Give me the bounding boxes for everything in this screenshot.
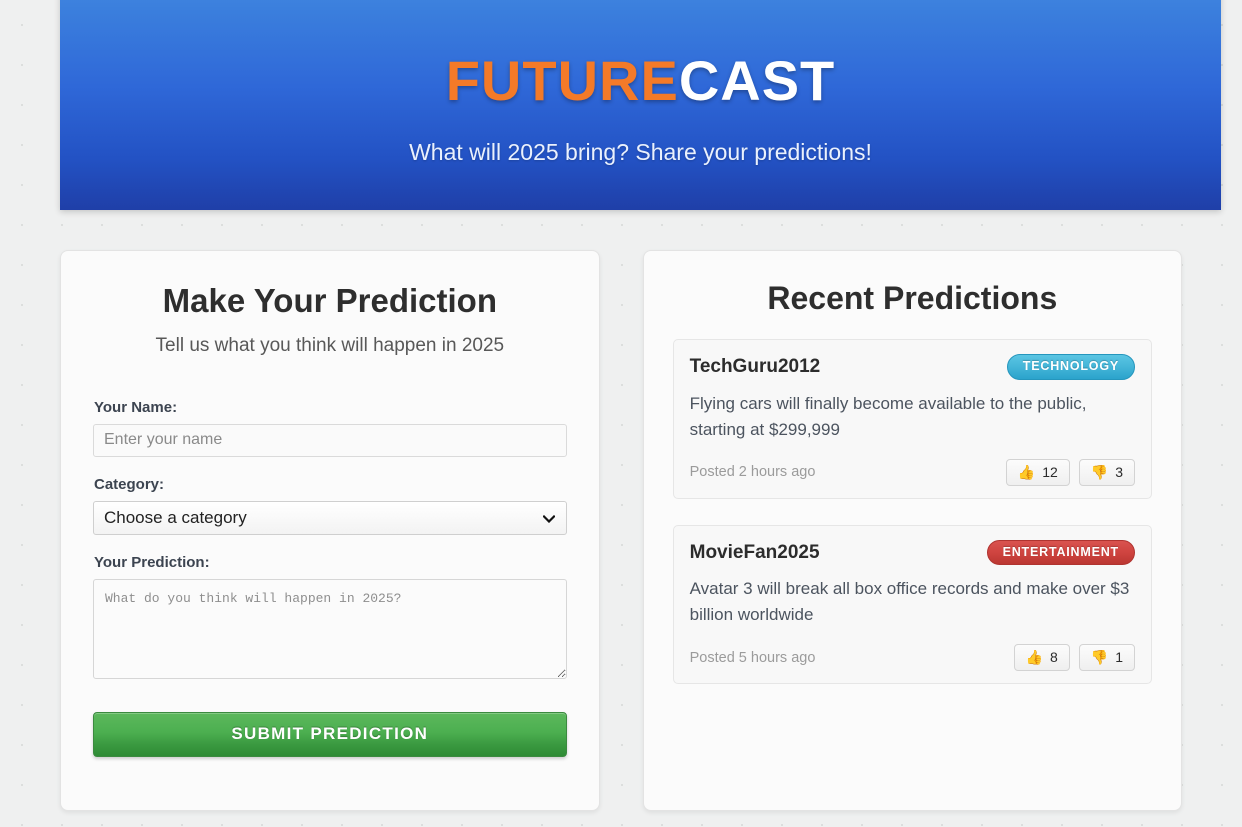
form-subtitle: Tell us what you think will happen in 20… <box>93 335 567 357</box>
site-tagline: What will 2025 bring? Share your predict… <box>409 139 872 166</box>
card-footer: Posted 2 hours ago 👍 12 👎 3 <box>690 459 1135 486</box>
prediction-card-list: TechGuru2012 Technology Flying cars will… <box>673 339 1152 684</box>
card-timestamp: Posted 2 hours ago <box>690 464 816 480</box>
submit-prediction-button[interactable]: Submit Prediction <box>93 712 567 757</box>
card-header: MovieFan2025 Entertainment <box>690 540 1135 566</box>
card-username: MovieFan2025 <box>690 542 820 564</box>
site-logo: FUTURECAST <box>446 53 836 109</box>
card-prediction-text: Avatar 3 will break all box office recor… <box>690 576 1135 628</box>
prediction-card[interactable]: TechGuru2012 Technology Flying cars will… <box>673 339 1152 499</box>
site-header: FUTURECAST What will 2025 bring? Share y… <box>60 0 1221 210</box>
card-header: TechGuru2012 Technology <box>690 354 1135 380</box>
card-prediction-text: Flying cars will finally become availabl… <box>690 391 1135 443</box>
upvote-count: 8 <box>1050 650 1058 664</box>
vote-controls: 👍 12 👎 3 <box>1006 459 1135 486</box>
card-username: TechGuru2012 <box>690 356 821 378</box>
downvote-button[interactable]: 👎 1 <box>1079 644 1135 671</box>
name-input[interactable] <box>93 424 567 457</box>
logo-text-future: FUTURE <box>446 49 679 112</box>
upvote-button[interactable]: 👍 12 <box>1006 459 1070 486</box>
prediction-form-panel: Make Your Prediction Tell us what you th… <box>60 250 600 811</box>
feed-title: Recent Predictions <box>673 279 1152 317</box>
vote-controls: 👍 8 👎 1 <box>1014 644 1135 671</box>
card-footer: Posted 5 hours ago 👍 8 👎 1 <box>690 644 1135 671</box>
downvote-count: 3 <box>1115 465 1123 479</box>
name-field-label: Your Name: <box>94 399 567 416</box>
category-select-wrapper: Choose a category <box>93 501 567 535</box>
logo-text-cast: CAST <box>679 49 835 112</box>
thumbs-up-icon: 👍 <box>1018 465 1035 479</box>
category-badge: Entertainment <box>987 540 1135 566</box>
prediction-field-label: Your Prediction: <box>94 554 567 571</box>
form-title: Make Your Prediction <box>93 281 567 321</box>
prediction-card[interactable]: MovieFan2025 Entertainment Avatar 3 will… <box>673 525 1152 685</box>
page-root: FUTURECAST What will 2025 bring? Share y… <box>0 0 1242 827</box>
downvote-count: 1 <box>1115 650 1123 664</box>
recent-predictions-panel: Recent Predictions TechGuru2012 Technolo… <box>643 250 1182 811</box>
thumbs-down-icon: 👎 <box>1091 465 1108 479</box>
category-select[interactable]: Choose a category <box>93 501 567 535</box>
prediction-textarea[interactable] <box>93 579 567 679</box>
upvote-button[interactable]: 👍 8 <box>1014 644 1070 671</box>
card-timestamp: Posted 5 hours ago <box>690 650 816 666</box>
category-field-label: Category: <box>94 476 567 493</box>
upvote-count: 12 <box>1042 465 1058 479</box>
main-columns: Make Your Prediction Tell us what you th… <box>0 250 1242 811</box>
thumbs-up-icon: 👍 <box>1026 650 1043 664</box>
category-badge: Technology <box>1007 354 1135 380</box>
downvote-button[interactable]: 👎 3 <box>1079 459 1135 486</box>
thumbs-down-icon: 👎 <box>1091 650 1108 664</box>
